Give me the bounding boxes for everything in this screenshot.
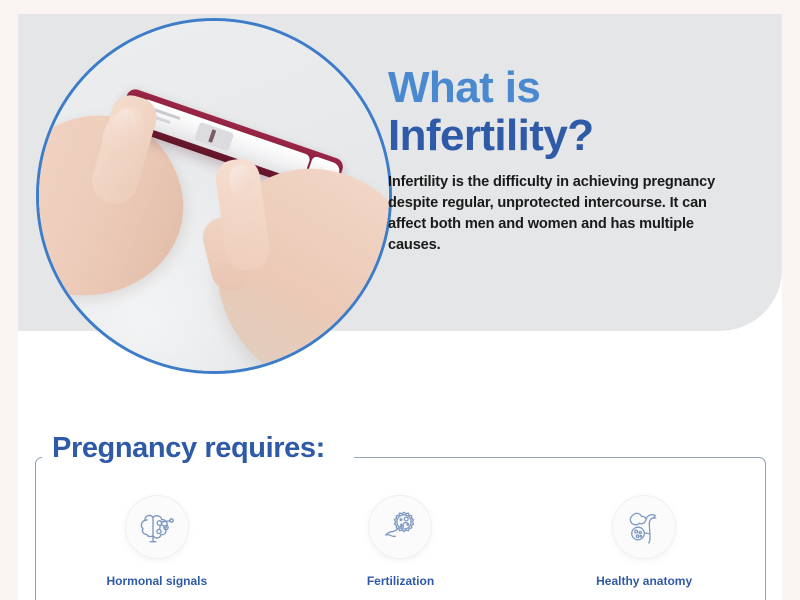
hero-paragraph: Infertility is the difficulty in achievi… bbox=[388, 172, 748, 256]
page-title-line-1: What is bbox=[388, 66, 748, 111]
requirement-caption-1: Hormonal signals bbox=[106, 574, 207, 590]
hero-photo-circle bbox=[36, 18, 392, 374]
hero-photo-image bbox=[39, 21, 389, 371]
requirement-item-2[interactable]: Fertilization bbox=[300, 496, 500, 590]
egg-fertilization-icon bbox=[369, 496, 431, 558]
infographic-page: What is Infertility? Infertility is the … bbox=[0, 0, 800, 600]
page-title-line-2: Infertility? bbox=[388, 111, 748, 160]
requirements-icon-row: Hormonal signals Fertilization bbox=[35, 496, 766, 590]
brain-hormones-icon bbox=[126, 496, 188, 558]
requirement-item-3[interactable]: Healthy anatomy bbox=[544, 496, 744, 590]
section-heading: Pregnancy requires: bbox=[52, 432, 325, 465]
hero-text-block: What is Infertility? Infertility is the … bbox=[388, 66, 748, 256]
requirement-item-1[interactable]: Hormonal signals bbox=[57, 496, 257, 590]
requirement-caption-2: Fertilization bbox=[367, 574, 434, 590]
fallopian-tube-ovary-icon bbox=[613, 496, 675, 558]
requirement-caption-3: Healthy anatomy bbox=[596, 574, 692, 590]
